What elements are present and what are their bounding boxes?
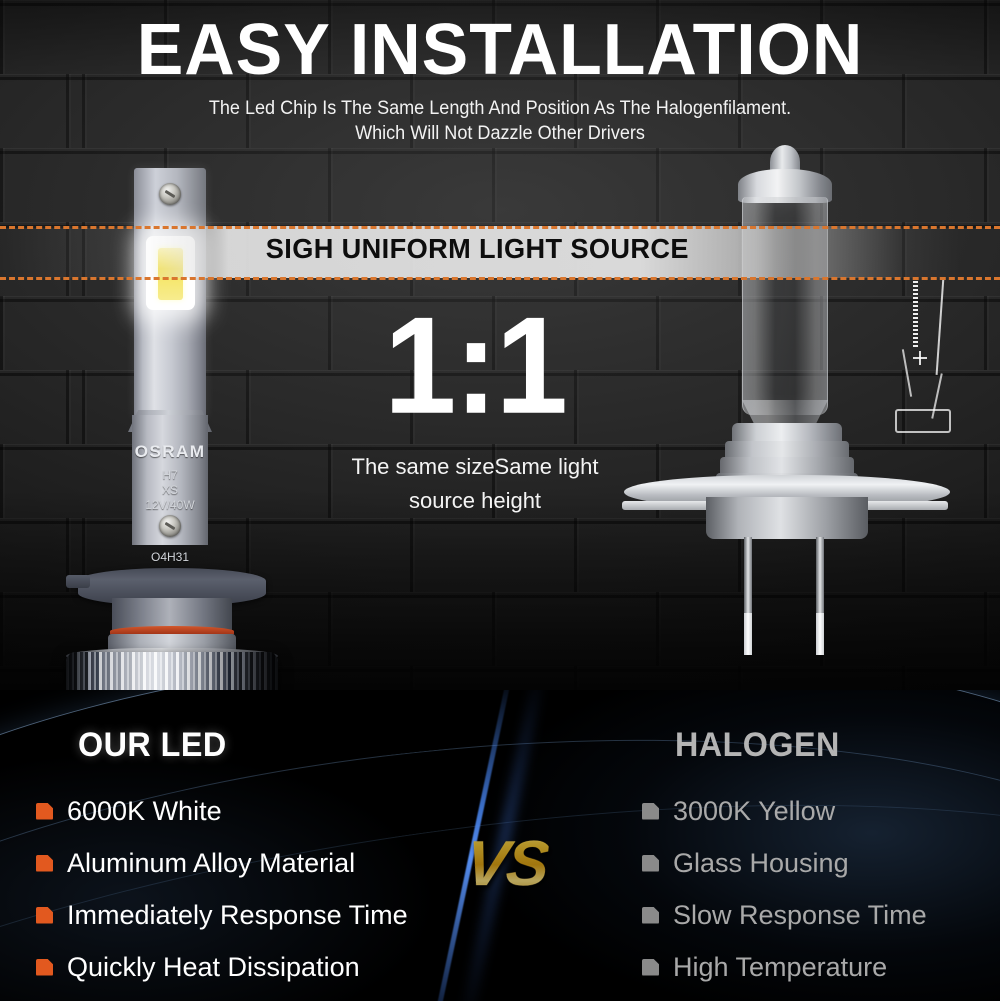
list-item: High Temperature	[642, 941, 1000, 993]
bullet-marker-icon	[642, 855, 659, 872]
bullet-marker-icon	[36, 907, 53, 924]
list-item: Glass Housing	[642, 837, 1000, 889]
alignment-dashed-line-bottom	[0, 277, 1000, 280]
led-column-title: OUR LED	[78, 726, 227, 765]
product-infographic: OSRAM H7 XS 12V/40W O4H31	[0, 0, 1000, 1001]
filament-wire	[936, 277, 945, 375]
filament-wire	[902, 349, 912, 397]
light-source-band-label: SIGH UNIFORM LIGHT SOURCE	[0, 233, 970, 265]
list-item: Aluminum Alloy Material	[36, 837, 470, 889]
halogen-column-title: HALOGEN	[675, 726, 840, 765]
led-brand-label: OSRAM	[131, 442, 209, 462]
alignment-dashed-line-top	[0, 226, 1000, 229]
ratio-headline: 1:1	[330, 296, 620, 434]
vs-badge: VS	[462, 826, 551, 900]
list-item-label: High Temperature	[673, 952, 887, 982]
bullet-marker-icon	[642, 803, 659, 820]
screw-icon	[159, 515, 181, 537]
list-item: 6000K White	[36, 785, 470, 837]
page-title: EASY INSTALLATION	[15, 14, 985, 86]
bullet-marker-icon	[36, 855, 53, 872]
page-subtitle-line-1: The Led Chip Is The Same Length And Posi…	[25, 96, 975, 121]
page-subtitle-line-2: Which Will Not Dazzle Other Drivers	[25, 121, 975, 146]
led-spec-line-3: 12V/40W	[132, 498, 208, 513]
bullet-marker-icon	[642, 959, 659, 976]
led-batch-code: O4H31	[132, 550, 208, 564]
ratio-caption: The same sizeSame light source height	[300, 450, 650, 518]
led-mount-tab	[66, 575, 90, 588]
list-item: Quickly Heat Dissipation	[36, 941, 470, 993]
led-spec-line-1: H7	[132, 468, 208, 483]
bullet-marker-icon	[36, 803, 53, 820]
list-item-label: Quickly Heat Dissipation	[67, 952, 360, 982]
list-item: Immediately Response Time	[36, 889, 470, 941]
filament-support	[913, 357, 927, 359]
list-item: 3000K Yellow	[642, 785, 1000, 837]
halogen-feature-list: 3000K Yellow Glass Housing Slow Response…	[530, 785, 1000, 993]
filament-coil	[913, 281, 918, 349]
list-item-label: Glass Housing	[673, 848, 849, 878]
halogen-prong-tip	[816, 613, 824, 655]
bullet-marker-icon	[642, 907, 659, 924]
list-item-label: 3000K Yellow	[673, 796, 835, 826]
bullet-marker-icon	[36, 959, 53, 976]
led-feature-list: 6000K White Aluminum Alloy Material Imme…	[0, 785, 470, 993]
halogen-prong-tip	[744, 613, 752, 655]
halogen-base-body	[706, 497, 868, 539]
list-item-label: Immediately Response Time	[67, 900, 408, 930]
ratio-caption-line-1: The same sizeSame light	[300, 450, 650, 484]
filament-shield	[895, 409, 951, 433]
screw-icon	[159, 183, 181, 205]
list-item-label: Slow Response Time	[673, 900, 927, 930]
led-spec-line-2: XS	[132, 483, 208, 498]
list-item: Slow Response Time	[642, 889, 1000, 941]
list-item-label: Aluminum Alloy Material	[67, 848, 355, 878]
list-item-label: 6000K White	[67, 796, 222, 826]
led-spec-label: H7 XS 12V/40W	[132, 468, 208, 513]
ratio-caption-line-2: source height	[300, 484, 650, 518]
page-subtitle: The Led Chip Is The Same Length And Posi…	[25, 96, 975, 146]
